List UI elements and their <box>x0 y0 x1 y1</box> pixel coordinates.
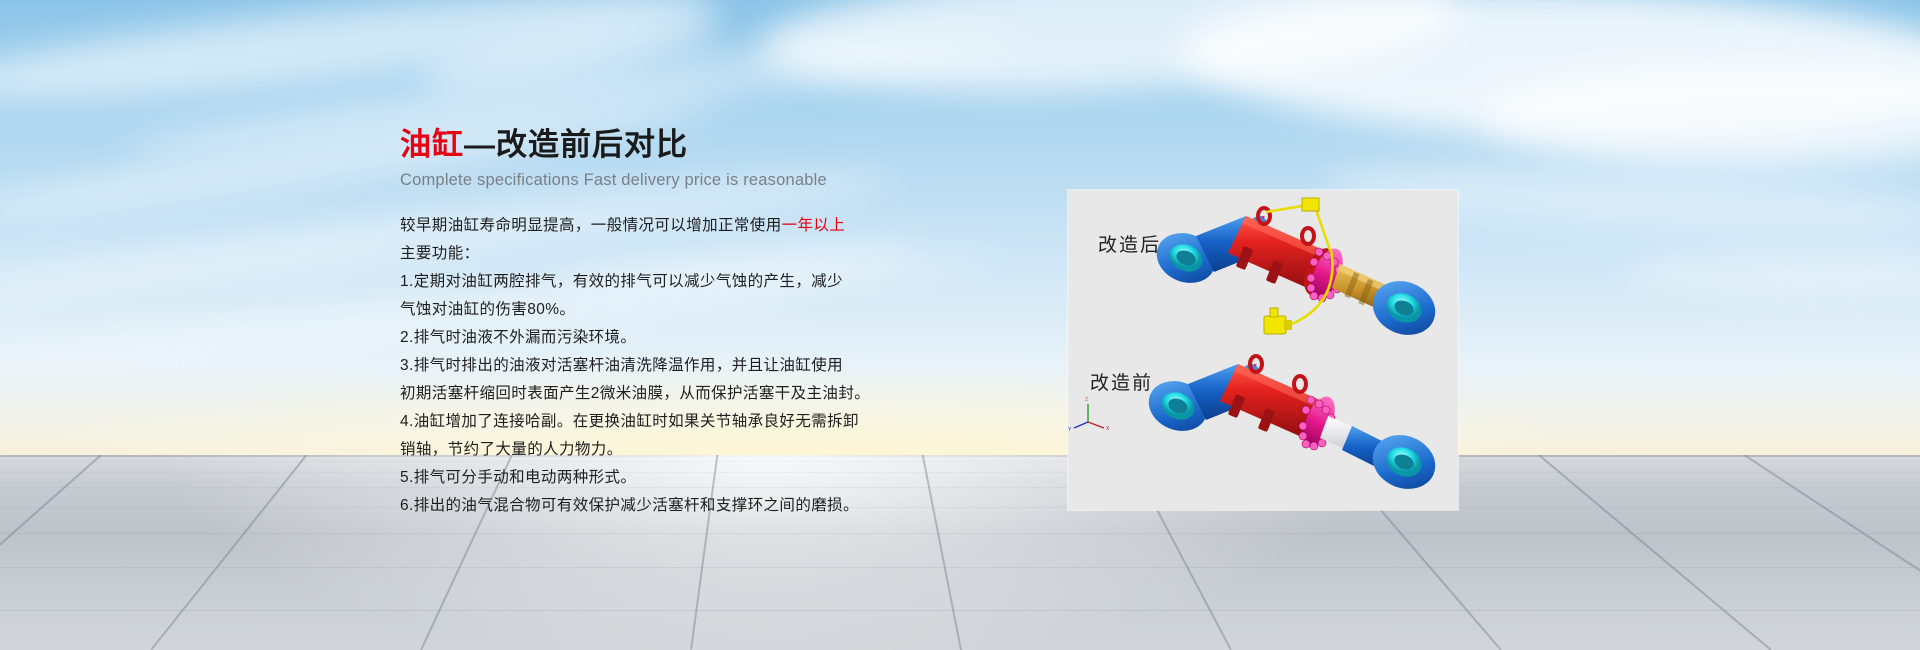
body-line-text: 初期活塞杆缩回时表面产生2微米油膜，从而保护活塞干及主油封。 <box>400 385 870 402</box>
pavement-seam <box>0 610 1920 611</box>
svg-text:Z: Z <box>1085 397 1088 403</box>
pavement-seam <box>0 487 1920 488</box>
body-line: 6.排出的油气混合物可有效保护减少活塞杆和支撑环之间的磨损。 <box>400 492 920 520</box>
body-line-text: 3.排气时排出的油液对活塞杆油清洗降温作用，并且让油缸使用 <box>400 357 843 374</box>
body-line: 3.排气时排出的油液对活塞杆油清洗降温作用，并且让油缸使用 <box>400 352 920 380</box>
pavement-seam <box>0 507 1920 508</box>
body-line-text: 气蚀对油缸的伤害80%。 <box>400 301 575 318</box>
body-line: 2.排气时油液不外漏而污染环境。 <box>400 324 920 352</box>
pavement-seam <box>0 533 1920 534</box>
body-line: 较早期油缸寿命明显提高，一般情况可以增加正常使用一年以上 <box>400 212 920 240</box>
label-before-modification: 改造前 <box>1090 368 1153 395</box>
body-line-text: 5.排气可分手动和电动两种形式。 <box>400 469 636 486</box>
ground-sheen <box>0 455 1920 650</box>
banner-subtitle: Complete specifications Fast delivery pr… <box>400 171 920 190</box>
product-illustration: Z X Y 改造后 改造前 <box>1068 190 1458 510</box>
product-image-panel: Z X Y 改造后 改造前 <box>1068 190 1458 510</box>
horizon-glow <box>0 330 1920 465</box>
banner-body: 较早期油缸寿命明显提高，一般情况可以增加正常使用一年以上主要功能：1.定期对油缸… <box>400 212 920 520</box>
body-line-text: 2.排气时油液不外漏而污染环境。 <box>400 329 636 346</box>
svg-text:X: X <box>1106 426 1110 432</box>
body-line-highlight: 一年以上 <box>782 217 846 234</box>
axis-triad-icon: Z X Y <box>1068 397 1110 433</box>
hero-banner: 油缸—改造前后对比 Complete specifications Fast d… <box>0 0 1920 650</box>
title-highlight: 油缸 <box>400 127 464 162</box>
body-line: 1.定期对油缸两腔排气，有效的排气可以减少气蚀的产生，减少 <box>400 268 920 296</box>
bleed-valve-icon <box>1264 308 1292 334</box>
body-line-text: 6.排出的油气混合物可有效保护减少活塞杆和支撑环之间的磨损。 <box>400 497 859 514</box>
svg-text:Y: Y <box>1068 427 1072 433</box>
body-line-text: 1.定期对油缸两腔排气，有效的排气可以减少气蚀的产生，减少 <box>400 273 843 290</box>
cloud-streak <box>1620 250 1920 296</box>
title-rest: —改造前后对比 <box>464 127 688 162</box>
body-line: 5.排气可分手动和电动两种形式。 <box>400 464 920 492</box>
pavement-ground <box>0 455 1920 650</box>
pavement-seam <box>0 461 1920 462</box>
body-line-text: 销轴，节约了大量的人力物力。 <box>400 441 623 458</box>
body-line: 主要功能： <box>400 240 920 268</box>
label-after-modification: 改造后 <box>1098 230 1161 257</box>
body-line: 气蚀对油缸的伤害80%。 <box>400 296 920 324</box>
body-line-text: 较早期油缸寿命明显提高，一般情况可以增加正常使用 <box>400 217 782 234</box>
pavement-seam <box>0 472 1920 473</box>
banner-copy: 油缸—改造前后对比 Complete specifications Fast d… <box>400 128 920 520</box>
body-line-text: 主要功能： <box>400 245 480 262</box>
body-line-text: 4.油缸增加了连接哈副。在更换油缸时如果关节轴承良好无需拆卸 <box>400 413 859 430</box>
body-line: 初期活塞杆缩回时表面产生2微米油膜，从而保护活塞干及主油封。 <box>400 380 920 408</box>
pavement-seam <box>0 567 1920 568</box>
body-line: 销轴，节约了大量的人力物力。 <box>400 436 920 464</box>
body-line: 4.油缸增加了连接哈副。在更换油缸时如果关节轴承良好无需拆卸 <box>400 408 920 436</box>
page-title: 油缸—改造前后对比 <box>400 128 920 162</box>
